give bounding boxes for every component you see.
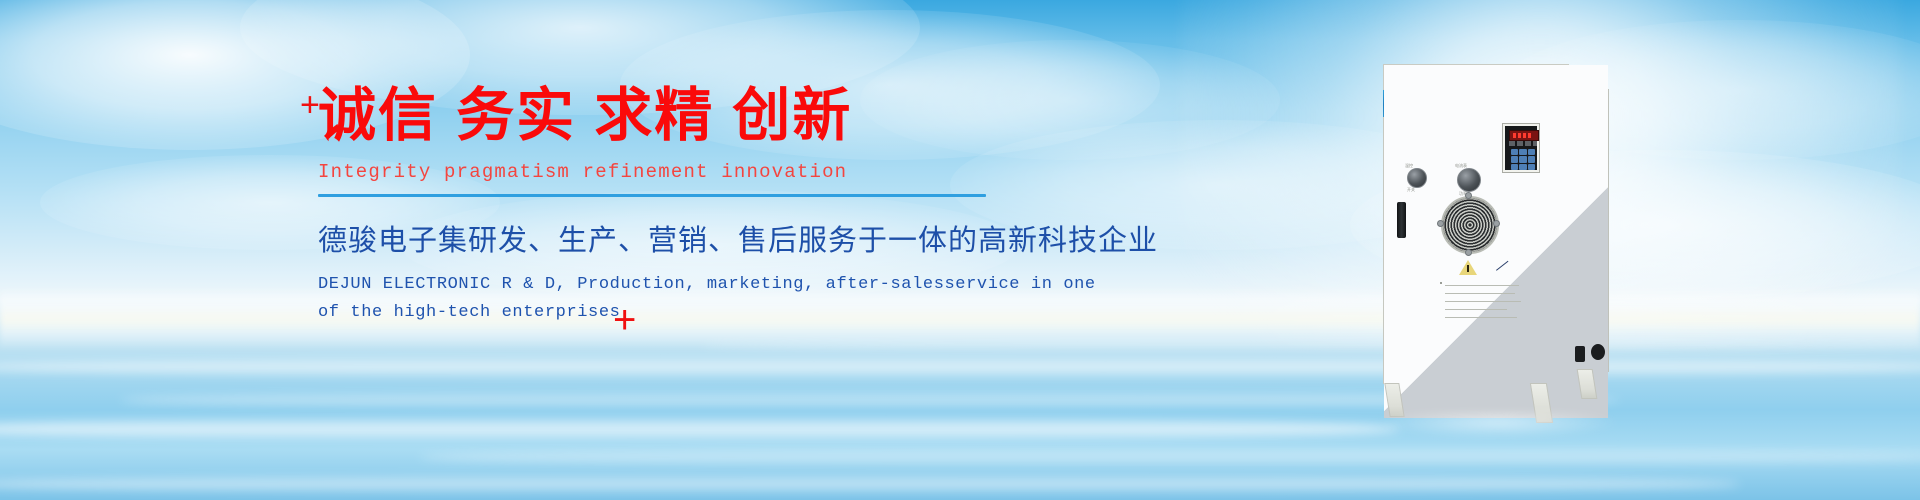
keypad-key[interactable]	[1528, 164, 1535, 170]
warning-triangle-icon	[1459, 260, 1477, 275]
gauge-face	[1384, 65, 1608, 418]
water-highlight	[700, 340, 1920, 350]
keypad-key[interactable]	[1511, 164, 1518, 170]
headline-chinese: 诚信 务实 求精 创新	[318, 86, 1018, 147]
tagline-english-line-2: of the high-tech enterprises	[318, 299, 1018, 327]
tagline-english: DEJUN ELECTRONIC R & D, Production, mark…	[318, 271, 1018, 327]
water-highlight	[0, 356, 1920, 378]
product-machine-image: 新型电磁加热设备 温控	[1383, 64, 1609, 419]
knob-label-right-top: 电流表	[1455, 163, 1467, 169]
water-highlight	[420, 448, 1920, 466]
banner-text-block: 诚信 务实 求精 创新 Integrity pragmatism refinem…	[318, 86, 1018, 327]
fan-screw	[1437, 220, 1444, 227]
keypad-label-strip	[1509, 141, 1537, 146]
decorative-plus-icon: +	[300, 88, 320, 122]
specification-label	[1445, 282, 1523, 322]
fan-screw	[1493, 220, 1500, 227]
knob-label-left-top: 温控	[1405, 163, 1413, 169]
keypad-key[interactable]	[1528, 156, 1535, 162]
headline-english: Integrity pragmatism refinement innovati…	[318, 161, 1018, 183]
machine-handle[interactable]	[1397, 202, 1406, 238]
water-highlight	[0, 416, 1400, 442]
control-keypad-icon[interactable]	[1503, 124, 1539, 172]
machine-reflection	[1378, 412, 1618, 438]
water-highlight	[0, 474, 1740, 494]
keypad-led-display	[1509, 130, 1539, 141]
keypad-key[interactable]	[1528, 149, 1535, 155]
fan-grille-icon	[1441, 196, 1499, 254]
fan-screw	[1465, 249, 1472, 256]
control-knob-left[interactable]	[1407, 168, 1427, 188]
keypad-key[interactable]	[1519, 149, 1526, 155]
divider-rule	[318, 194, 986, 197]
keypad-key[interactable]	[1511, 156, 1518, 162]
promotional-banner: + + 诚信 务实 求精 创新 Integrity pragmatism ref…	[0, 0, 1920, 500]
keypad-key[interactable]	[1519, 164, 1526, 170]
machine-connector-socket	[1591, 344, 1605, 360]
keypad-key[interactable]	[1519, 156, 1526, 162]
keypad-buttons[interactable]	[1511, 149, 1535, 170]
machine-connector-port	[1575, 346, 1585, 362]
tagline-chinese: 德骏电子集研发、生产、营销、售后服务于一体的高新科技企业	[318, 217, 1018, 259]
fan-screw	[1465, 192, 1472, 199]
analog-gauge-icon[interactable]	[1383, 64, 1427, 104]
knob-label-left-bottom: 开关	[1407, 187, 1415, 193]
keypad-key[interactable]	[1511, 149, 1518, 155]
tagline-english-line-1: DEJUN ELECTRONIC R & D, Production, mark…	[318, 271, 1018, 299]
control-knob-right[interactable]	[1457, 168, 1481, 192]
